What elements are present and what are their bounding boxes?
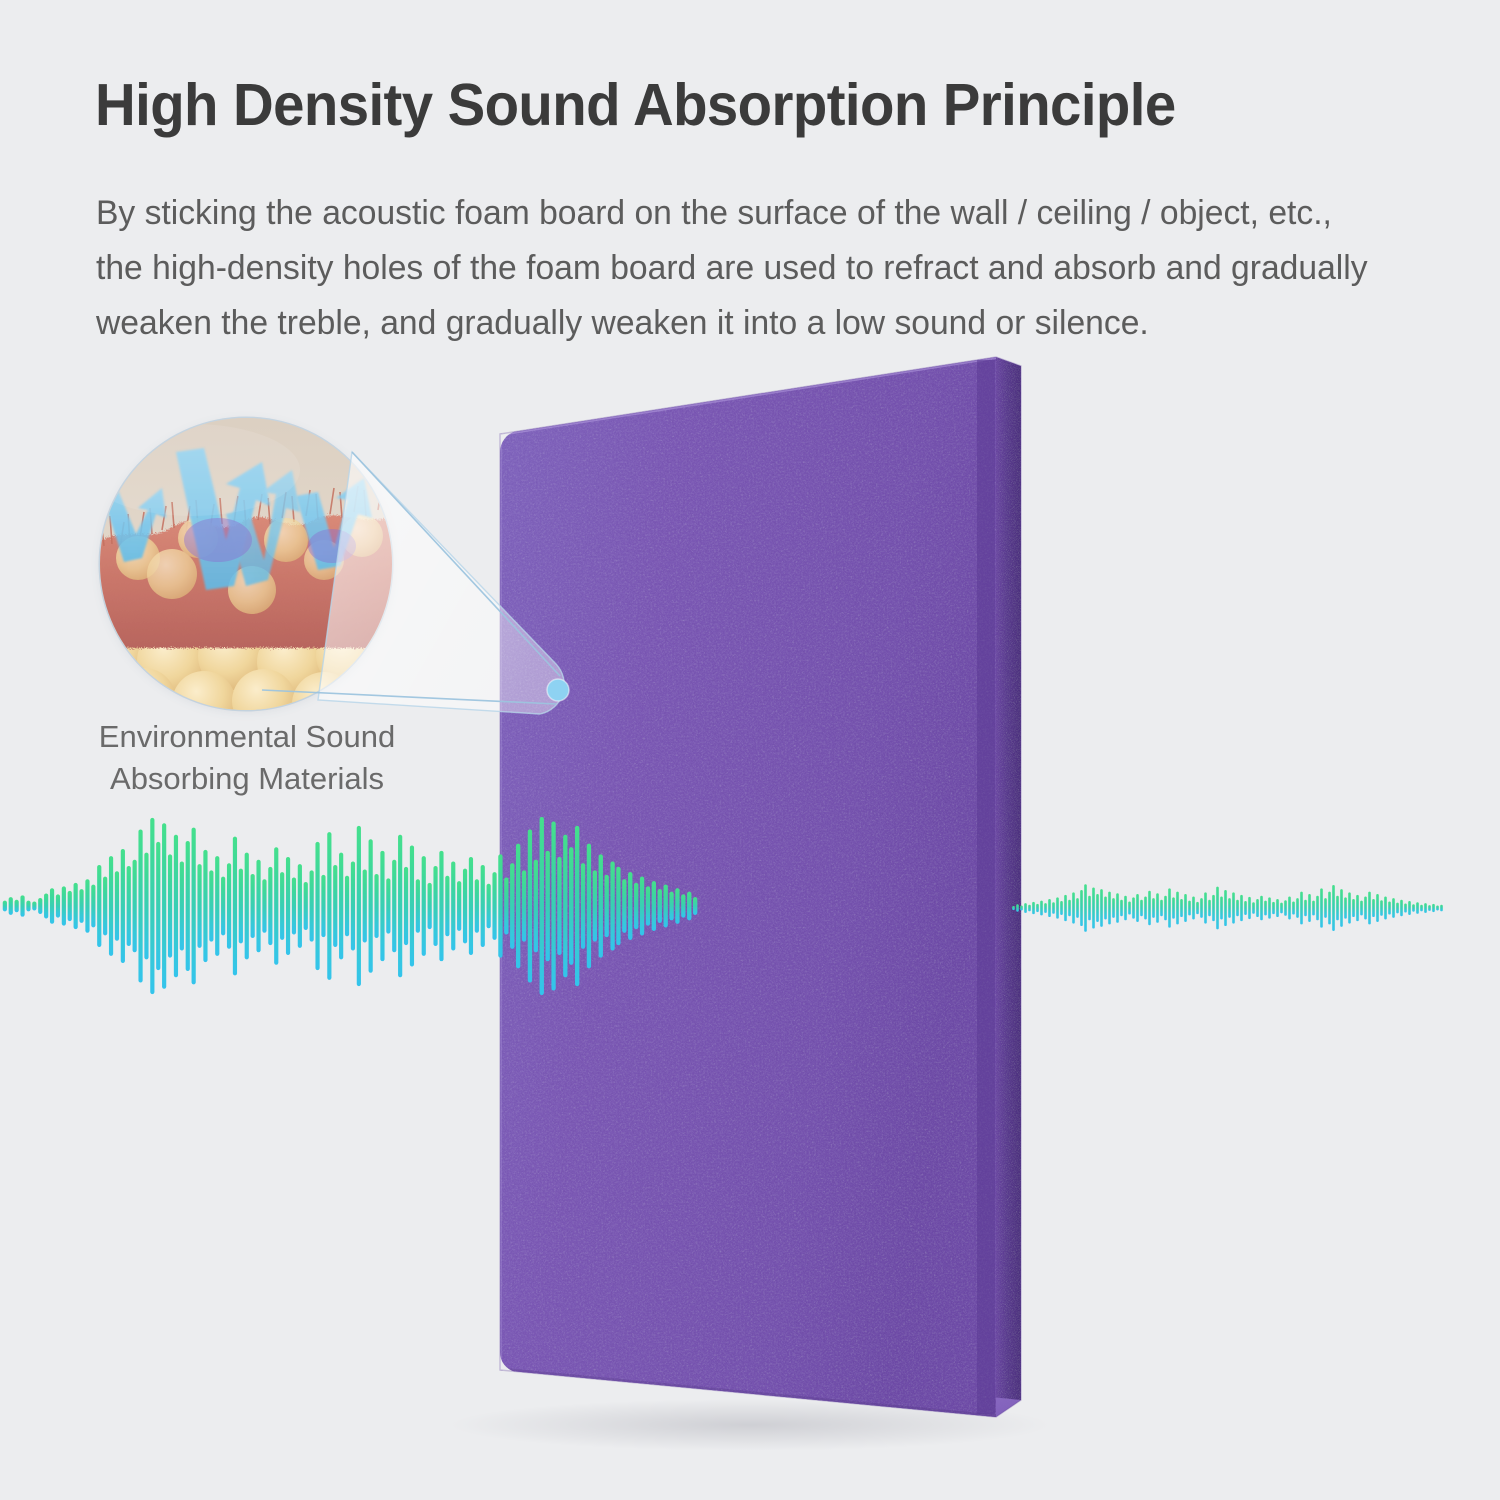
- waveform-bar: [528, 829, 532, 982]
- waveform-bar: [56, 894, 60, 917]
- waveform-bar: [1268, 897, 1271, 918]
- waveform-bar: [180, 862, 184, 951]
- waveform-bar: [1160, 900, 1163, 916]
- waveform-bar: [416, 879, 420, 932]
- waveform-bar: [693, 897, 697, 915]
- waveform-bar: [1252, 902, 1255, 913]
- waveform-bar: [321, 875, 325, 937]
- waveform-bar: [439, 851, 443, 961]
- waveform-bar: [357, 826, 361, 986]
- waveform-bar: [1352, 899, 1355, 917]
- waveform-bar: [534, 860, 538, 953]
- waveform-bar: [1168, 888, 1171, 927]
- waveform-bar: [516, 844, 520, 969]
- waveform-bar: [85, 879, 89, 932]
- waveform-bar: [1300, 892, 1303, 925]
- waveform-bar: [62, 886, 66, 925]
- waveform-bar: [652, 881, 656, 931]
- waveform-bar: [569, 847, 573, 964]
- waveform-bar: [1164, 896, 1167, 921]
- waveform-bar: [357, 826, 361, 986]
- waveform-bar: [1152, 898, 1155, 918]
- waveform-bar: [1424, 903, 1427, 913]
- waveform-bar: [32, 902, 36, 911]
- waveform-bar: [392, 860, 396, 953]
- waveform-bar: [1264, 901, 1267, 916]
- waveform-bar: [481, 865, 485, 947]
- waveform-bar: [1192, 897, 1195, 920]
- waveform-bar: [15, 900, 19, 912]
- waveform-bar: [475, 879, 479, 932]
- waveform-bar: [74, 883, 78, 929]
- waveform-bar: [693, 897, 697, 915]
- waveform-bar: [498, 854, 502, 957]
- waveform-bar: [534, 860, 538, 953]
- magnifier-caption-line-1: Environmental Sound: [72, 716, 422, 758]
- waveform-bar: [581, 863, 585, 948]
- waveform-bar: [1044, 903, 1047, 913]
- waveform-bar: [569, 847, 573, 964]
- waveform-bar: [138, 829, 142, 982]
- waveform-bar: [605, 875, 609, 937]
- waveform-bar: [321, 875, 325, 937]
- waveform-bar: [457, 881, 461, 931]
- waveform-bar: [469, 857, 473, 955]
- waveform-bar: [3, 901, 7, 912]
- waveform-bar: [1248, 897, 1251, 919]
- waveform-bar: [1376, 894, 1379, 922]
- waveform-bar: [404, 867, 408, 945]
- waveform-bars-overlay: [3, 817, 698, 995]
- waveform-bar: [162, 823, 166, 989]
- waveform-bar: [498, 854, 502, 957]
- waveform-bar: [1356, 895, 1359, 921]
- waveform-bar: [563, 835, 567, 977]
- waveform-bar: [1116, 893, 1119, 923]
- waveform-bar: [428, 883, 432, 929]
- waveform-bar: [1188, 901, 1191, 916]
- waveform-bar: [451, 862, 455, 951]
- waveform-bar: [174, 835, 178, 977]
- waveform-bar: [551, 821, 555, 990]
- panel-front-face-grain: [500, 357, 996, 1417]
- waveform-bar: [274, 847, 278, 964]
- waveform-bar: [1420, 905, 1423, 912]
- waveform-bar: [640, 877, 644, 936]
- waveform-bar: [109, 856, 113, 956]
- waveform-bar: [1156, 893, 1159, 923]
- waveform-bar: [433, 866, 437, 946]
- waveform-bar: [298, 864, 302, 948]
- waveform-bar: [227, 863, 231, 948]
- panel-corner-tl: [500, 430, 520, 452]
- waveform-bar: [1364, 897, 1367, 920]
- waveform-bar: [1072, 892, 1075, 923]
- waveform-bar: [109, 856, 113, 956]
- waveform-bar: [658, 889, 662, 923]
- callout-target-dot-ring: [547, 679, 569, 701]
- waveform-bar: [221, 877, 225, 936]
- waveform-bar: [422, 856, 426, 956]
- waveform-bar: [133, 860, 137, 953]
- waveform-bar: [162, 823, 166, 989]
- waveform-bar: [658, 889, 662, 923]
- waveform-bar: [1140, 900, 1143, 916]
- waveform-bar: [315, 842, 319, 970]
- waveform-bar: [1172, 897, 1175, 918]
- waveform-bar: [197, 864, 201, 948]
- waveform-bar: [233, 837, 237, 976]
- waveform-bar: [1024, 903, 1027, 913]
- waveform-bar: [410, 845, 414, 966]
- waveform-bar: [610, 862, 614, 951]
- waveform-bar: [1220, 897, 1223, 920]
- waveform-bar: [1092, 888, 1095, 929]
- waveform-bar: [62, 886, 66, 925]
- waveform-bar: [1132, 897, 1135, 918]
- waveform-bar: [1108, 892, 1111, 925]
- waveform-bar: [504, 878, 508, 935]
- waveform-bar: [256, 860, 260, 953]
- waveform-bar: [1372, 899, 1375, 917]
- waveform-bar: [1068, 900, 1071, 916]
- waveform-bar: [327, 832, 331, 980]
- waveform-bar: [1408, 901, 1411, 915]
- waveform-bar: [215, 856, 219, 956]
- waveform-bar: [1348, 892, 1351, 923]
- waveform-bar: [428, 883, 432, 929]
- waveform-bar: [144, 853, 148, 960]
- waveform-bar: [180, 862, 184, 951]
- waveform-bar: [286, 857, 290, 955]
- waveform-bar: [1096, 894, 1099, 922]
- waveform-bar: [1040, 901, 1043, 916]
- waveform-bar: [3, 901, 7, 912]
- waveform-bar: [103, 877, 107, 936]
- waveform-bar: [133, 860, 137, 953]
- waveform-bar: [79, 889, 83, 923]
- waveform-bar: [616, 867, 620, 945]
- waveform-bar: [280, 872, 284, 940]
- waveform-bar: [1232, 892, 1235, 923]
- waveform-bar: [522, 870, 526, 941]
- waveform-bar: [398, 835, 402, 977]
- waveform-bar: [262, 879, 266, 932]
- waveform-bar: [392, 860, 396, 953]
- waveform-bar: [209, 870, 213, 941]
- waveform-bar: [97, 865, 101, 947]
- waveform-bar: [156, 842, 160, 970]
- waveform-bar: [664, 885, 668, 928]
- waveform-bar: [251, 874, 255, 938]
- waveform-bar: [339, 853, 343, 960]
- waveform-bar: [386, 878, 390, 933]
- waveform-bar: [1324, 898, 1327, 918]
- waveform-bar: [56, 894, 60, 917]
- waveform-bar: [1184, 894, 1187, 922]
- waveform-bar: [540, 817, 544, 995]
- waveform-bar: [1360, 901, 1363, 916]
- waveform-bar: [516, 844, 520, 969]
- waveform-bar: [1216, 887, 1219, 930]
- waveform-bar: [492, 872, 496, 940]
- waveform-bar: [404, 867, 408, 945]
- waveform-bar: [363, 870, 367, 943]
- waveform-bar: [622, 879, 626, 932]
- waveform-bar: [168, 854, 172, 957]
- waveform-bar: [481, 865, 485, 947]
- waveform-bar: [1432, 904, 1435, 912]
- waveform-bar: [1344, 897, 1347, 918]
- waveform-bar: [68, 891, 72, 921]
- waveform-bar: [1020, 906, 1023, 911]
- attenuated-sound-wave: [1010, 858, 1445, 958]
- waveform-bar: [1304, 900, 1307, 916]
- waveform-bar: [652, 881, 656, 931]
- waveform-bar: [1048, 899, 1051, 917]
- waveform-bar: [1200, 898, 1203, 918]
- waveform-bar: [38, 898, 42, 914]
- waveform-bar: [292, 878, 296, 935]
- waveform-bar: [646, 886, 650, 925]
- waveform-bar: [168, 854, 172, 957]
- waveform-bar: [1056, 897, 1059, 918]
- waveform-bar: [605, 875, 609, 937]
- waveform-bar: [304, 882, 308, 930]
- waveform-bar: [333, 865, 337, 947]
- waveform-bar: [669, 892, 673, 920]
- waveform-bar: [1028, 905, 1031, 912]
- waveform-bar: [1120, 900, 1123, 916]
- waveform-bar: [1284, 900, 1287, 916]
- waveform-bar: [463, 869, 467, 944]
- waveform-bar: [1288, 897, 1291, 920]
- waveform-bar: [563, 835, 567, 977]
- waveform-bar: [203, 850, 207, 962]
- waveform-bar: [504, 878, 508, 935]
- waveform-bar: [115, 871, 119, 940]
- waveform-bar: [369, 839, 373, 973]
- waveform-bar: [1392, 898, 1395, 918]
- waveform-bar: [256, 860, 260, 953]
- waveform-bar: [268, 867, 272, 945]
- waveform-bar: [192, 828, 196, 985]
- waveform-bar: [345, 876, 349, 937]
- waveform-bar: [1272, 902, 1275, 914]
- waveform-bar: [26, 901, 30, 912]
- waveform-bar: [44, 894, 48, 919]
- waveform-bar: [398, 835, 402, 977]
- waveform-bar: [91, 885, 95, 928]
- waveform-bar: [581, 863, 585, 948]
- waveform-bar: [380, 851, 384, 961]
- waveform-bar: [664, 885, 668, 928]
- waveform-bar: [1128, 901, 1131, 914]
- waveform-bar: [245, 853, 249, 960]
- waveform-bar: [634, 883, 638, 929]
- description-paragraph: By sticking the acoustic foam board on t…: [96, 186, 1379, 351]
- page-title: High Density Sound Absorption Principle: [95, 76, 1356, 135]
- waveform-bar: [1412, 904, 1415, 911]
- waveform-bar: [593, 870, 597, 941]
- waveform-bar: [239, 869, 243, 944]
- waveform-bar: [97, 865, 101, 947]
- waveform-bar: [1244, 901, 1247, 915]
- waveform-bar: [445, 876, 449, 937]
- waveform-bar: [1328, 892, 1331, 925]
- waveform-bar: [197, 864, 201, 948]
- waveform-bar: [528, 829, 532, 982]
- waveform-bar: [1136, 894, 1139, 922]
- waveform-bar: [616, 867, 620, 945]
- waveform-bar: [1404, 903, 1407, 912]
- waveform-bar: [646, 886, 650, 925]
- waveform-bar: [640, 877, 644, 936]
- waveform-bar: [1204, 892, 1207, 923]
- waveform-bar: [622, 879, 626, 932]
- panel-shadow: [450, 1399, 1050, 1451]
- waveform-bar: [1312, 901, 1315, 916]
- waveform-bar: [121, 849, 125, 963]
- waveform-bar: [1100, 889, 1103, 927]
- waveform-bar: [1148, 891, 1151, 925]
- waveform-bar: [1296, 898, 1299, 918]
- waveform-bar: [369, 839, 373, 973]
- waveform-bar: [203, 850, 207, 962]
- waveform-bar: [492, 872, 496, 940]
- waveform-bar: [121, 849, 125, 963]
- waveform-bar: [1240, 895, 1243, 921]
- waveform-bar: [1280, 903, 1283, 914]
- waveform-bar: [1112, 898, 1115, 918]
- waveform-bar: [610, 862, 614, 951]
- waveform-bar: [304, 882, 308, 930]
- waveform-bar: [593, 870, 597, 941]
- waveform-bar: [1440, 905, 1443, 912]
- panel-bottom-bevel: [500, 1349, 1021, 1417]
- waveform-bar: [363, 870, 367, 943]
- waveform-bar: [557, 857, 561, 955]
- waveform-bar: [1124, 896, 1127, 921]
- waveform-bar: [251, 874, 255, 938]
- waveform-bar: [315, 842, 319, 970]
- waveform-bar: [1076, 898, 1079, 918]
- waveform-bar: [546, 851, 550, 961]
- waveform-bar: [1436, 906, 1439, 911]
- waveform-bar: [351, 862, 355, 951]
- waveform-bar: [351, 862, 355, 951]
- waveform-bar: [115, 871, 119, 940]
- incoming-sound-wave: [0, 806, 700, 1006]
- incoming-sound-wave-over-panel: [0, 806, 700, 1006]
- waveform-bar: [1384, 897, 1387, 920]
- waveform-bar: [186, 841, 190, 971]
- waveform-bar: [274, 847, 278, 964]
- waveform-bar: [1036, 904, 1039, 912]
- waveform-bar: [74, 883, 78, 929]
- waveform-bar: [127, 866, 131, 946]
- waveform-bar: [374, 874, 378, 938]
- waveform-bar: [1064, 895, 1067, 921]
- waveform-bar: [1012, 906, 1015, 910]
- panel-corner-bl: [500, 1352, 520, 1373]
- waveform-bar: [487, 884, 491, 929]
- waveform-bar: [1032, 902, 1035, 914]
- waveform-bar: [575, 826, 579, 986]
- waveform-bar: [32, 902, 36, 911]
- waveform-bar: [687, 892, 691, 920]
- waveform-bar: [1224, 890, 1227, 926]
- waveform-bar: [1396, 903, 1399, 914]
- waveform-bar: [1016, 904, 1019, 911]
- waveform-bar: [510, 863, 514, 948]
- waveform-bar: [209, 870, 213, 941]
- waveform-bar: [1336, 896, 1339, 921]
- waveform-bar: [310, 870, 314, 941]
- waveform-bar: [439, 851, 443, 961]
- waveform-bar: [557, 857, 561, 955]
- waveform-bar: [1084, 884, 1087, 932]
- waveform-bar: [1180, 899, 1183, 917]
- magnifier-caption: Environmental Sound Absorbing Materials: [72, 716, 422, 800]
- waveform-bar: [422, 856, 426, 956]
- waveform-bar: [669, 892, 673, 920]
- waveform-bar: [192, 828, 196, 985]
- waveform-bar: [1080, 890, 1083, 926]
- magnifier-caption-line-2: Absorbing Materials: [72, 758, 422, 800]
- waveform-bar: [587, 844, 591, 969]
- panel-right-edge: [996, 357, 1021, 1417]
- waveform-bar: [1088, 896, 1091, 921]
- waveform-bar: [457, 881, 461, 931]
- waveform-bar: [262, 879, 266, 932]
- waveform-bar: [345, 876, 349, 937]
- waveform-bar: [1368, 892, 1371, 925]
- waveform-bar: [44, 894, 48, 919]
- waveform-bar: [416, 879, 420, 932]
- waveform-bar: [186, 841, 190, 971]
- waveform-bar: [1260, 896, 1263, 921]
- waveform-bar: [15, 900, 19, 912]
- waveform-bar: [1292, 901, 1295, 914]
- infographic-canvas: High Density Sound Absorption Principle …: [0, 0, 1500, 1500]
- waveform-bar: [1428, 905, 1431, 911]
- waveform-bar: [20, 895, 24, 916]
- waveform-bar: [1416, 902, 1419, 913]
- waveform-bar: [221, 877, 225, 936]
- waveform-bar: [245, 853, 249, 960]
- waveform-bar: [675, 888, 679, 924]
- waveform-bar: [551, 821, 555, 990]
- waveform-bar: [628, 872, 632, 940]
- waveform-bar: [575, 826, 579, 986]
- waveform-bar: [487, 884, 491, 929]
- waveform-bar: [1276, 899, 1279, 917]
- waveform-bar: [1176, 892, 1179, 925]
- waveform-bar: [1052, 902, 1055, 913]
- waveform-bar: [628, 872, 632, 940]
- waveform-bar: [1228, 898, 1231, 918]
- waveform-bar: [380, 851, 384, 961]
- waveform-bar: [410, 845, 414, 966]
- waveform-bar: [150, 818, 154, 994]
- waveform-bar: [156, 842, 160, 970]
- waveform-bar: [599, 854, 603, 957]
- waveform-bar: [268, 867, 272, 945]
- waveform-bar: [445, 876, 449, 937]
- waveform-bar: [50, 888, 54, 924]
- waveform-bar: [451, 862, 455, 951]
